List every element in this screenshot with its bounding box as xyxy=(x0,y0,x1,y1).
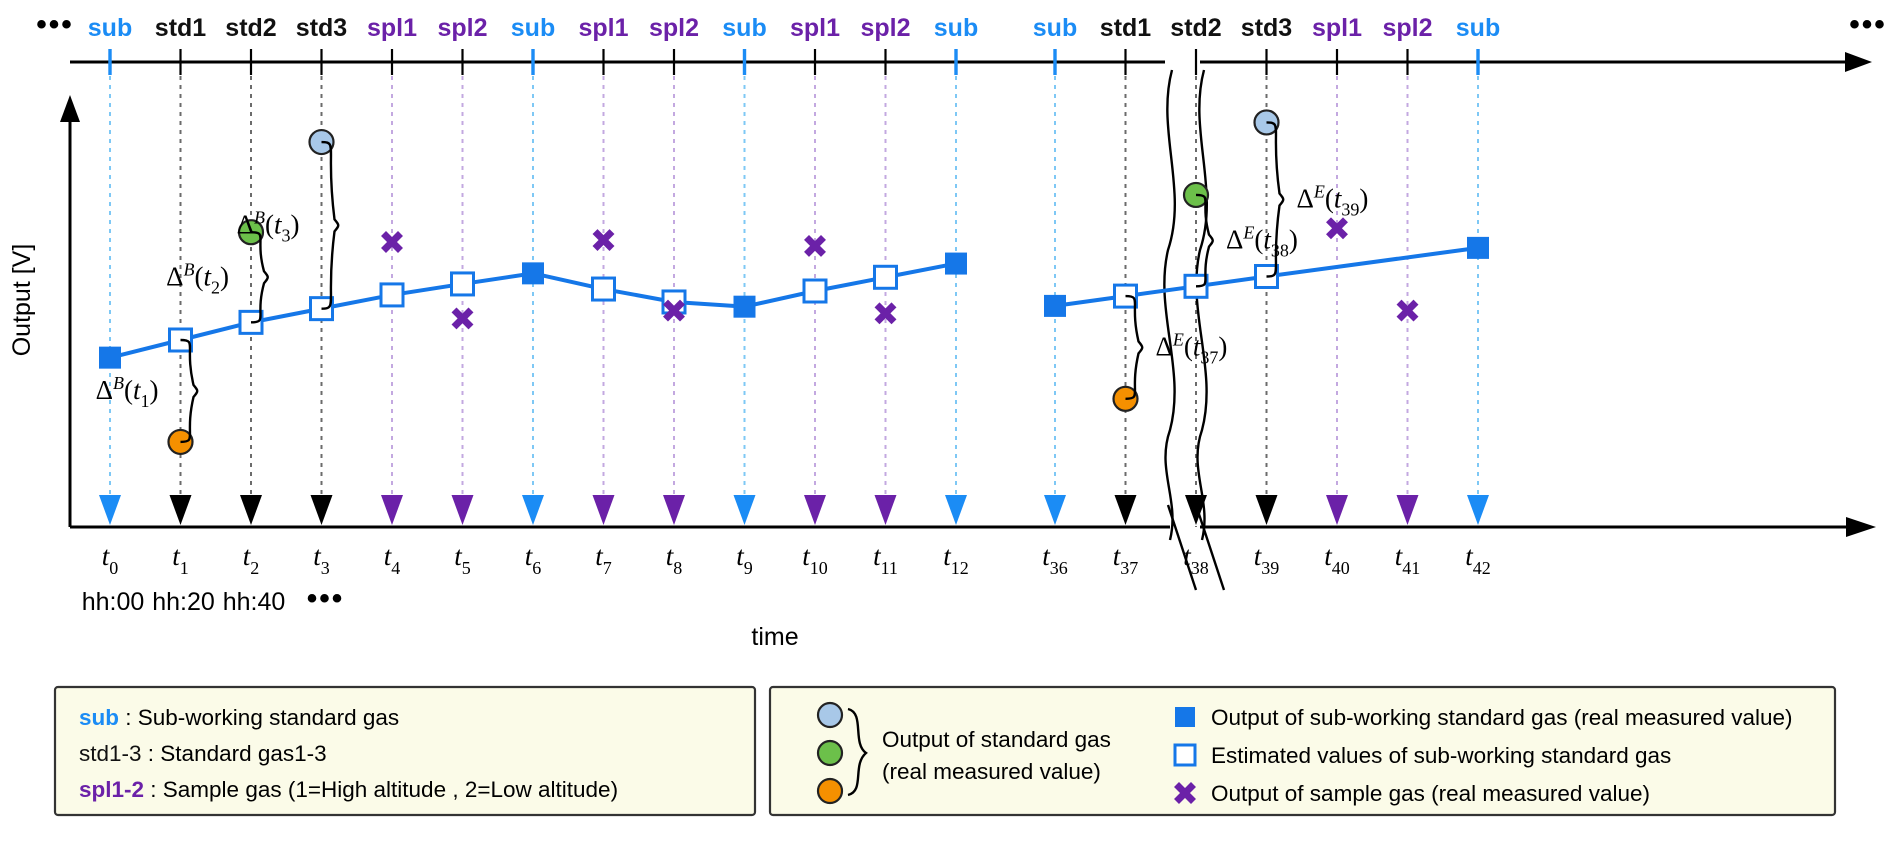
x-axis-title: time xyxy=(751,623,798,651)
brace-t_37[interactable] xyxy=(1126,296,1143,399)
marker-sub-estimated-t_5[interactable] xyxy=(452,273,474,295)
legend-marker-sub-measured[interactable] xyxy=(1175,707,1195,727)
marker-sub-measured-t_0[interactable] xyxy=(99,347,121,369)
legend-standard-circle-1[interactable] xyxy=(818,741,842,765)
marker-sub-measured-t_12[interactable] xyxy=(945,253,967,275)
marker-sub-estimated-t_10[interactable] xyxy=(804,280,826,302)
top-axis-label-std3-3: std3 xyxy=(296,14,347,42)
top-axis-ellipsis-right: ••• xyxy=(1849,8,1887,41)
brace-t_3[interactable] xyxy=(322,142,339,309)
legend-left-row-sub: sub : Sub-working standard gas xyxy=(79,705,399,730)
top-axis-label-sub-0: sub xyxy=(88,14,132,42)
brace-t_38[interactable] xyxy=(1196,195,1213,286)
tick-arrow-t_36[interactable] xyxy=(1044,495,1066,525)
time-tick-label-t_6: t6 xyxy=(525,541,542,578)
time-tick-label-t_8: t8 xyxy=(666,541,683,578)
legend-standard-circle-0[interactable] xyxy=(818,703,842,727)
time-tick-label-t_40: t40 xyxy=(1324,541,1350,578)
x-axis-arrow[interactable] xyxy=(1846,517,1876,537)
tick-arrow-t_40[interactable] xyxy=(1326,495,1348,525)
time-tick-label-t_36: t36 xyxy=(1042,541,1068,578)
top-axis-label-r-std3-3: std3 xyxy=(1241,14,1292,42)
delta-label-t_39: ΔE(t39) xyxy=(1297,181,1369,219)
legend-standard-text-line2: (real measured value) xyxy=(882,759,1101,784)
calibration-sequence-figure: ••••••substd1std2std3spl1spl2subspl1spl2… xyxy=(0,0,1892,846)
tick-arrow-t_1[interactable] xyxy=(170,495,192,525)
top-axis-arrow[interactable] xyxy=(1845,52,1872,72)
marker-sample-t_7 xyxy=(587,223,621,257)
tick-arrow-t_8[interactable] xyxy=(663,495,685,525)
y-axis-arrow[interactable] xyxy=(60,95,80,122)
brace-t_1[interactable] xyxy=(181,340,198,442)
top-axis-label-spl2-11: spl2 xyxy=(860,14,910,42)
tick-arrow-t_7[interactable] xyxy=(593,495,615,525)
time-tick-label-t_7: t7 xyxy=(595,541,612,578)
top-axis-label-std1-1: std1 xyxy=(155,14,207,42)
top-axis-label-std2-2: std2 xyxy=(225,14,276,42)
tick-arrow-t_2[interactable] xyxy=(240,495,262,525)
time-tick-label-t_0: t0 xyxy=(102,541,119,578)
top-axis-label-spl1-10: spl1 xyxy=(790,14,840,42)
tick-arrow-t_10[interactable] xyxy=(804,495,826,525)
time-tick-label-t_39: t39 xyxy=(1254,541,1280,578)
marker-sub-measured-t_9[interactable] xyxy=(734,296,756,318)
legend-standard-circle-2[interactable] xyxy=(818,779,842,803)
delta-label-t_1: ΔB(t1) xyxy=(96,373,159,411)
time-tick-label-t_12: t12 xyxy=(943,541,969,578)
tick-arrow-t_5[interactable] xyxy=(452,495,474,525)
top-axis-label-r-std1-1: std1 xyxy=(1100,14,1152,42)
tick-arrow-t_42[interactable] xyxy=(1467,495,1489,525)
tick-arrow-t_37[interactable] xyxy=(1115,495,1137,525)
figure-canvas: ••••••substd1std2std3spl1spl2subspl1spl2… xyxy=(0,0,1892,846)
clock-label-2: hh:40 xyxy=(223,588,286,616)
marker-sub-measured-t_6[interactable] xyxy=(522,262,544,284)
time-tick-label-t_38: t38 xyxy=(1183,541,1209,578)
time-tick-label-t_41: t41 xyxy=(1395,541,1421,578)
legend-right-item-0: Output of sub-working standard gas (real… xyxy=(1211,705,1793,730)
marker-sub-measured-t_42[interactable] xyxy=(1467,237,1489,259)
tick-arrow-t_6[interactable] xyxy=(522,495,544,525)
tick-arrow-t_12[interactable] xyxy=(945,495,967,525)
top-axis-label-spl1-7: spl1 xyxy=(578,14,628,42)
y-axis-title: Output [V] xyxy=(8,244,36,357)
top-axis-ellipsis-left: ••• xyxy=(36,8,74,41)
clock-label-1: hh:20 xyxy=(152,588,215,616)
top-axis-label-sub-12: sub xyxy=(934,14,978,42)
time-tick-label-t_11: t11 xyxy=(873,541,898,578)
top-axis-label-spl2-5: spl2 xyxy=(437,14,487,42)
marker-sub-estimated-t_7[interactable] xyxy=(593,278,615,300)
time-tick-label-t_4: t4 xyxy=(384,541,401,578)
top-axis-label-r-spl1-4: spl1 xyxy=(1312,14,1362,42)
tick-arrow-t_3[interactable] xyxy=(311,495,333,525)
clock-label-0: hh:00 xyxy=(82,588,145,616)
marker-sub-measured-t_36[interactable] xyxy=(1044,295,1066,317)
tick-arrow-t_11[interactable] xyxy=(875,495,897,525)
marker-sub-estimated-t_11[interactable] xyxy=(875,266,897,288)
delta-label-t_38: ΔE(t38) xyxy=(1226,223,1298,261)
time-tick-label-t_9: t9 xyxy=(736,541,753,578)
clock-ellipsis: ••• xyxy=(307,582,345,615)
legend-right-item-1: Estimated values of sub-working standard… xyxy=(1211,743,1671,768)
legend-marker-sub-estimated[interactable] xyxy=(1175,745,1195,765)
top-axis-label-sub-6: sub xyxy=(511,14,555,42)
axis-break-curve-left[interactable] xyxy=(1164,70,1174,540)
time-tick-label-t_2: t2 xyxy=(243,541,260,578)
tick-arrow-t_4[interactable] xyxy=(381,495,403,525)
axis-break-curve-right[interactable] xyxy=(1196,70,1206,540)
time-tick-label-t_10: t10 xyxy=(802,541,828,578)
top-axis-label-spl1-4: spl1 xyxy=(367,14,417,42)
top-axis-label-r-sub-0: sub xyxy=(1033,14,1077,42)
tick-arrow-t_39[interactable] xyxy=(1256,495,1278,525)
legend-standard-text-line1: Output of standard gas xyxy=(882,727,1111,752)
legend-right-item-2: Output of sample gas (real measured valu… xyxy=(1211,781,1650,806)
top-axis-label-r-spl2-5: spl2 xyxy=(1382,14,1432,42)
top-axis-label-r-std2-2: std2 xyxy=(1170,14,1221,42)
legend-left-row-std1-3: std1-3 : Standard gas1-3 xyxy=(79,741,327,766)
time-tick-label-t_42: t42 xyxy=(1465,541,1491,578)
time-tick-label-t_3: t3 xyxy=(313,541,330,578)
brace-t_2[interactable] xyxy=(251,232,268,322)
time-tick-label-t_37: t37 xyxy=(1113,541,1139,578)
top-axis-label-spl2-8: spl2 xyxy=(649,14,699,42)
delta-label-t_37: ΔE(t37) xyxy=(1156,329,1228,367)
time-tick-label-t_5: t5 xyxy=(454,541,471,578)
marker-sub-estimated-t_4[interactable] xyxy=(381,284,403,306)
delta-label-t_2: ΔB(t2) xyxy=(166,259,229,297)
tick-arrow-t_41[interactable] xyxy=(1397,495,1419,525)
tick-arrow-t_9[interactable] xyxy=(734,495,756,525)
top-axis-label-sub-9: sub xyxy=(722,14,766,42)
top-axis-label-r-sub-6: sub xyxy=(1456,14,1500,42)
legend-left-row-spl1-2: spl1-2 : Sample gas (1=High altitude , 2… xyxy=(79,777,618,802)
time-tick-label-t_1: t1 xyxy=(172,541,189,578)
tick-arrow-t_0[interactable] xyxy=(99,495,121,525)
